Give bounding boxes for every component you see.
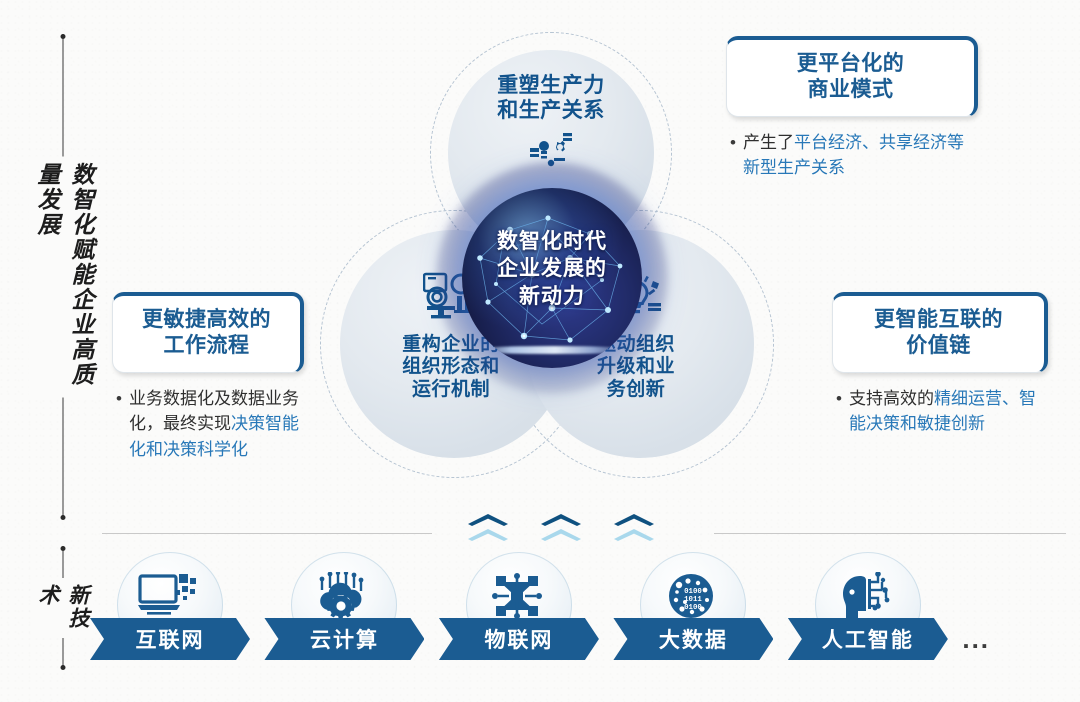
axis-tech: 新技术 xyxy=(56,548,70,668)
tech-label: 大数据 xyxy=(659,624,728,654)
axis-dot-bottom xyxy=(61,515,66,520)
tech-item-ai[interactable]: 人工智能 xyxy=(788,552,943,670)
callout-workflow-body: • 业务数据化及数据业务化，最终实现决策智能化和决策科学化 xyxy=(112,386,304,463)
chevron-up-icon xyxy=(466,512,510,526)
tech-item-bigdata[interactable]: 0100 1011 0100 大数据 xyxy=(613,552,768,670)
tech-row: 互联网 xyxy=(90,552,990,670)
infographic-canvas: 数智化赋能企业高质量发展 新技术 xyxy=(0,0,1080,702)
binary-line-2: 1011 xyxy=(684,596,702,604)
callout-title-line1: 更敏捷高效的 xyxy=(127,307,286,333)
callout-value-box[interactable]: 更智能互联的 价值链 xyxy=(832,292,1048,373)
callout-workflow-box[interactable]: 更敏捷高效的 工作流程 xyxy=(112,292,304,373)
chevron-up-icon xyxy=(612,512,656,526)
axis-dot-top xyxy=(61,546,66,551)
tech-ribbon[interactable]: 大数据 xyxy=(613,618,773,660)
callout-title-line1: 更智能互联的 xyxy=(847,307,1030,333)
callout-value-body: • 支持高效的精细运营、智能决策和敏捷创新 xyxy=(832,386,1048,437)
callout-value: 更智能互联的 价值链 • 支持高效的精细运营、智能决策和敏捷创新 xyxy=(832,292,1048,437)
lobe-top-line1: 重塑生产力 xyxy=(466,74,636,99)
tech-item-internet[interactable]: 互联网 xyxy=(90,552,245,670)
chevron-up-icon xyxy=(612,527,656,541)
callout-value-text: 支持高效的精细运营、智能决策和敏捷创新 xyxy=(849,386,1048,437)
chevron-pair xyxy=(466,512,510,546)
callout-title-line2: 工作流程 xyxy=(127,333,286,359)
axis-main-label: 数智化赋能企业高质量发展 xyxy=(29,157,97,398)
cloud-gear-icon xyxy=(314,572,370,623)
bullet-marker: • xyxy=(730,130,736,181)
tech-ribbon[interactable]: 物联网 xyxy=(439,618,599,660)
callout-title-line1: 更平台化的 xyxy=(741,51,960,77)
chevron-group xyxy=(466,512,656,546)
callout-platform: 更平台化的 商业模式 • 产生了平台经济、共享经济等新型生产关系 xyxy=(726,36,978,181)
tech-label: 互联网 xyxy=(136,624,205,654)
section-divider-left xyxy=(102,533,432,534)
axis-dot-top xyxy=(61,34,66,39)
tech-ribbon[interactable]: 人工智能 xyxy=(788,618,948,660)
center-title-line2: 企业发展的 xyxy=(450,255,654,282)
body-plain: 产生了 xyxy=(743,133,794,152)
axis-tech-label: 新技术 xyxy=(33,578,93,638)
tech-ribbon[interactable]: 云计算 xyxy=(264,618,424,660)
laptop-pixels-icon xyxy=(138,572,198,623)
body-plain: 支持高效的 xyxy=(849,389,934,408)
callout-platform-text: 产生了平台经济、共享经济等新型生产关系 xyxy=(743,130,978,181)
callout-platform-body: • 产生了平台经济、共享经济等新型生产关系 xyxy=(726,130,978,181)
tech-item-cloud[interactable]: 云计算 xyxy=(264,552,419,670)
iot-nodes-icon xyxy=(492,572,542,625)
chevron-up-icon xyxy=(539,527,583,541)
center-title-line1: 数智化时代 xyxy=(450,228,654,255)
chevron-pair xyxy=(612,512,656,546)
center-title: 数智化时代 企业发展的 新动力 xyxy=(450,228,654,310)
tech-ribbon[interactable]: 互联网 xyxy=(90,618,250,660)
lobe-top-line2: 和生产关系 xyxy=(466,99,636,124)
section-divider-right xyxy=(714,533,1066,534)
sphere-shine xyxy=(470,346,634,354)
tech-item-iot[interactable]: 物联网 xyxy=(439,552,594,670)
binary-line-3: 0100 xyxy=(684,604,702,612)
callout-workflow: 更敏捷高效的 工作流程 • 业务数据化及数据业务化，最终实现决策智能化和决策科学… xyxy=(112,292,304,462)
tech-label: 物联网 xyxy=(484,624,553,654)
chevron-up-icon xyxy=(466,527,510,541)
center-sphere[interactable]: 数智化时代 企业发展的 新动力 xyxy=(462,188,642,368)
binary-line-1: 0100 xyxy=(684,588,702,596)
callout-workflow-text: 业务数据化及数据业务化，最终实现决策智能化和决策科学化 xyxy=(129,386,304,463)
callout-title-line2: 价值链 xyxy=(847,333,1030,359)
axis-dot-bottom xyxy=(61,665,66,670)
chevron-pair xyxy=(539,512,583,546)
axis-main: 数智化赋能企业高质量发展 xyxy=(56,36,70,518)
callout-platform-box[interactable]: 更平台化的 商业模式 xyxy=(726,36,978,117)
tech-ellipsis: ... xyxy=(962,624,990,655)
callout-value-title: 更智能互联的 价值链 xyxy=(847,307,1030,360)
tech-label: 人工智能 xyxy=(822,624,914,654)
binary-circle-icon: 0100 1011 0100 xyxy=(666,572,716,625)
chevron-up-icon xyxy=(539,512,583,526)
callout-title-line2: 商业模式 xyxy=(741,77,960,103)
tech-label: 云计算 xyxy=(310,624,379,654)
center-title-line3: 新动力 xyxy=(450,283,654,310)
bullet-marker: • xyxy=(116,386,122,463)
bullet-marker: • xyxy=(836,386,842,437)
callout-workflow-title: 更敏捷高效的 工作流程 xyxy=(127,307,286,360)
callout-platform-title: 更平台化的 商业模式 xyxy=(741,51,960,104)
